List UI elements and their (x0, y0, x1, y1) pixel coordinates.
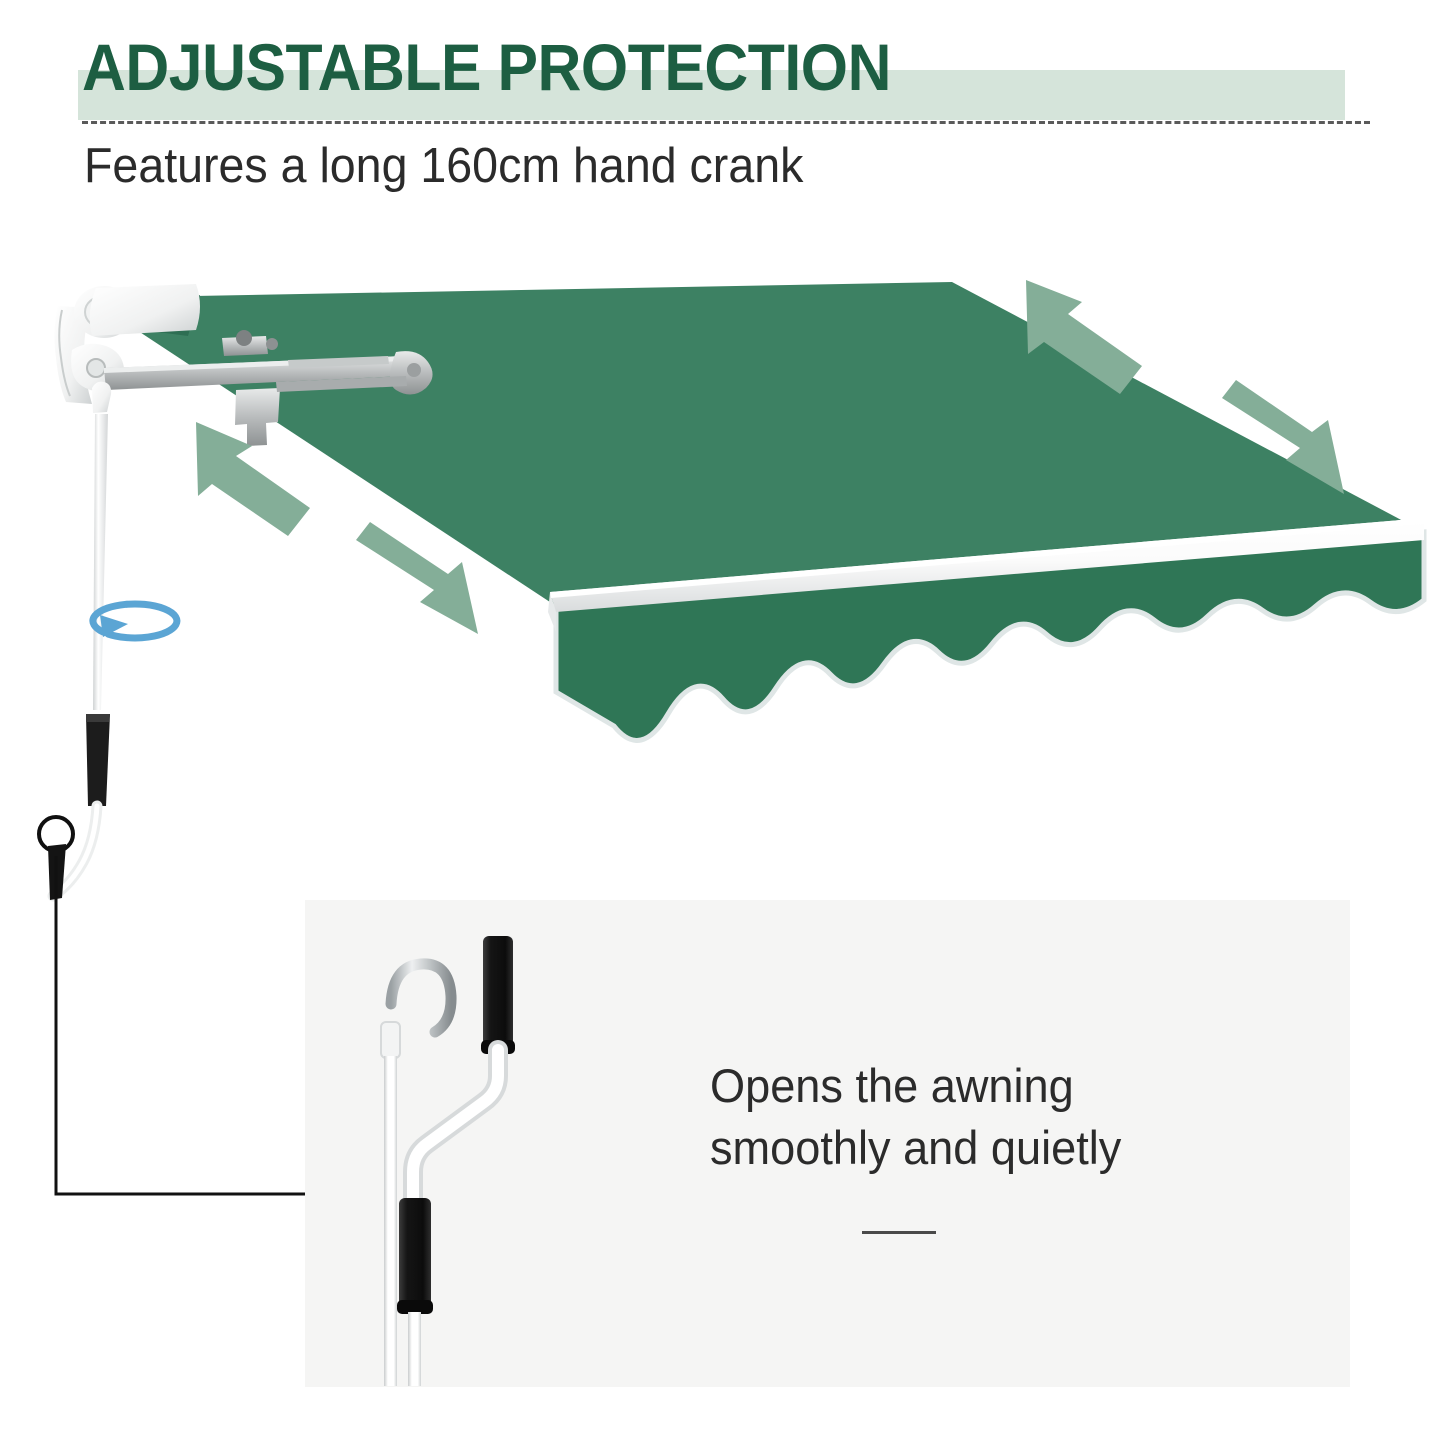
infographic-canvas: ADJUSTABLE PROTECTION Features a long 16… (0, 0, 1445, 1445)
detail-caption-underline (862, 1231, 936, 1234)
detail-caption: Opens the awning smoothly and quietly (710, 1055, 1248, 1179)
page-subtitle: Features a long 160cm hand crank (84, 137, 1319, 195)
crank-detail-image (305, 900, 755, 1387)
detail-caption-line2: smoothly and quietly (710, 1117, 1248, 1179)
page-title: ADJUSTABLE PROTECTION (82, 34, 1278, 100)
rotation-arrow-icon (93, 604, 177, 638)
header-divider (82, 121, 1370, 124)
detail-caption-line1: Opens the awning (710, 1055, 1248, 1117)
